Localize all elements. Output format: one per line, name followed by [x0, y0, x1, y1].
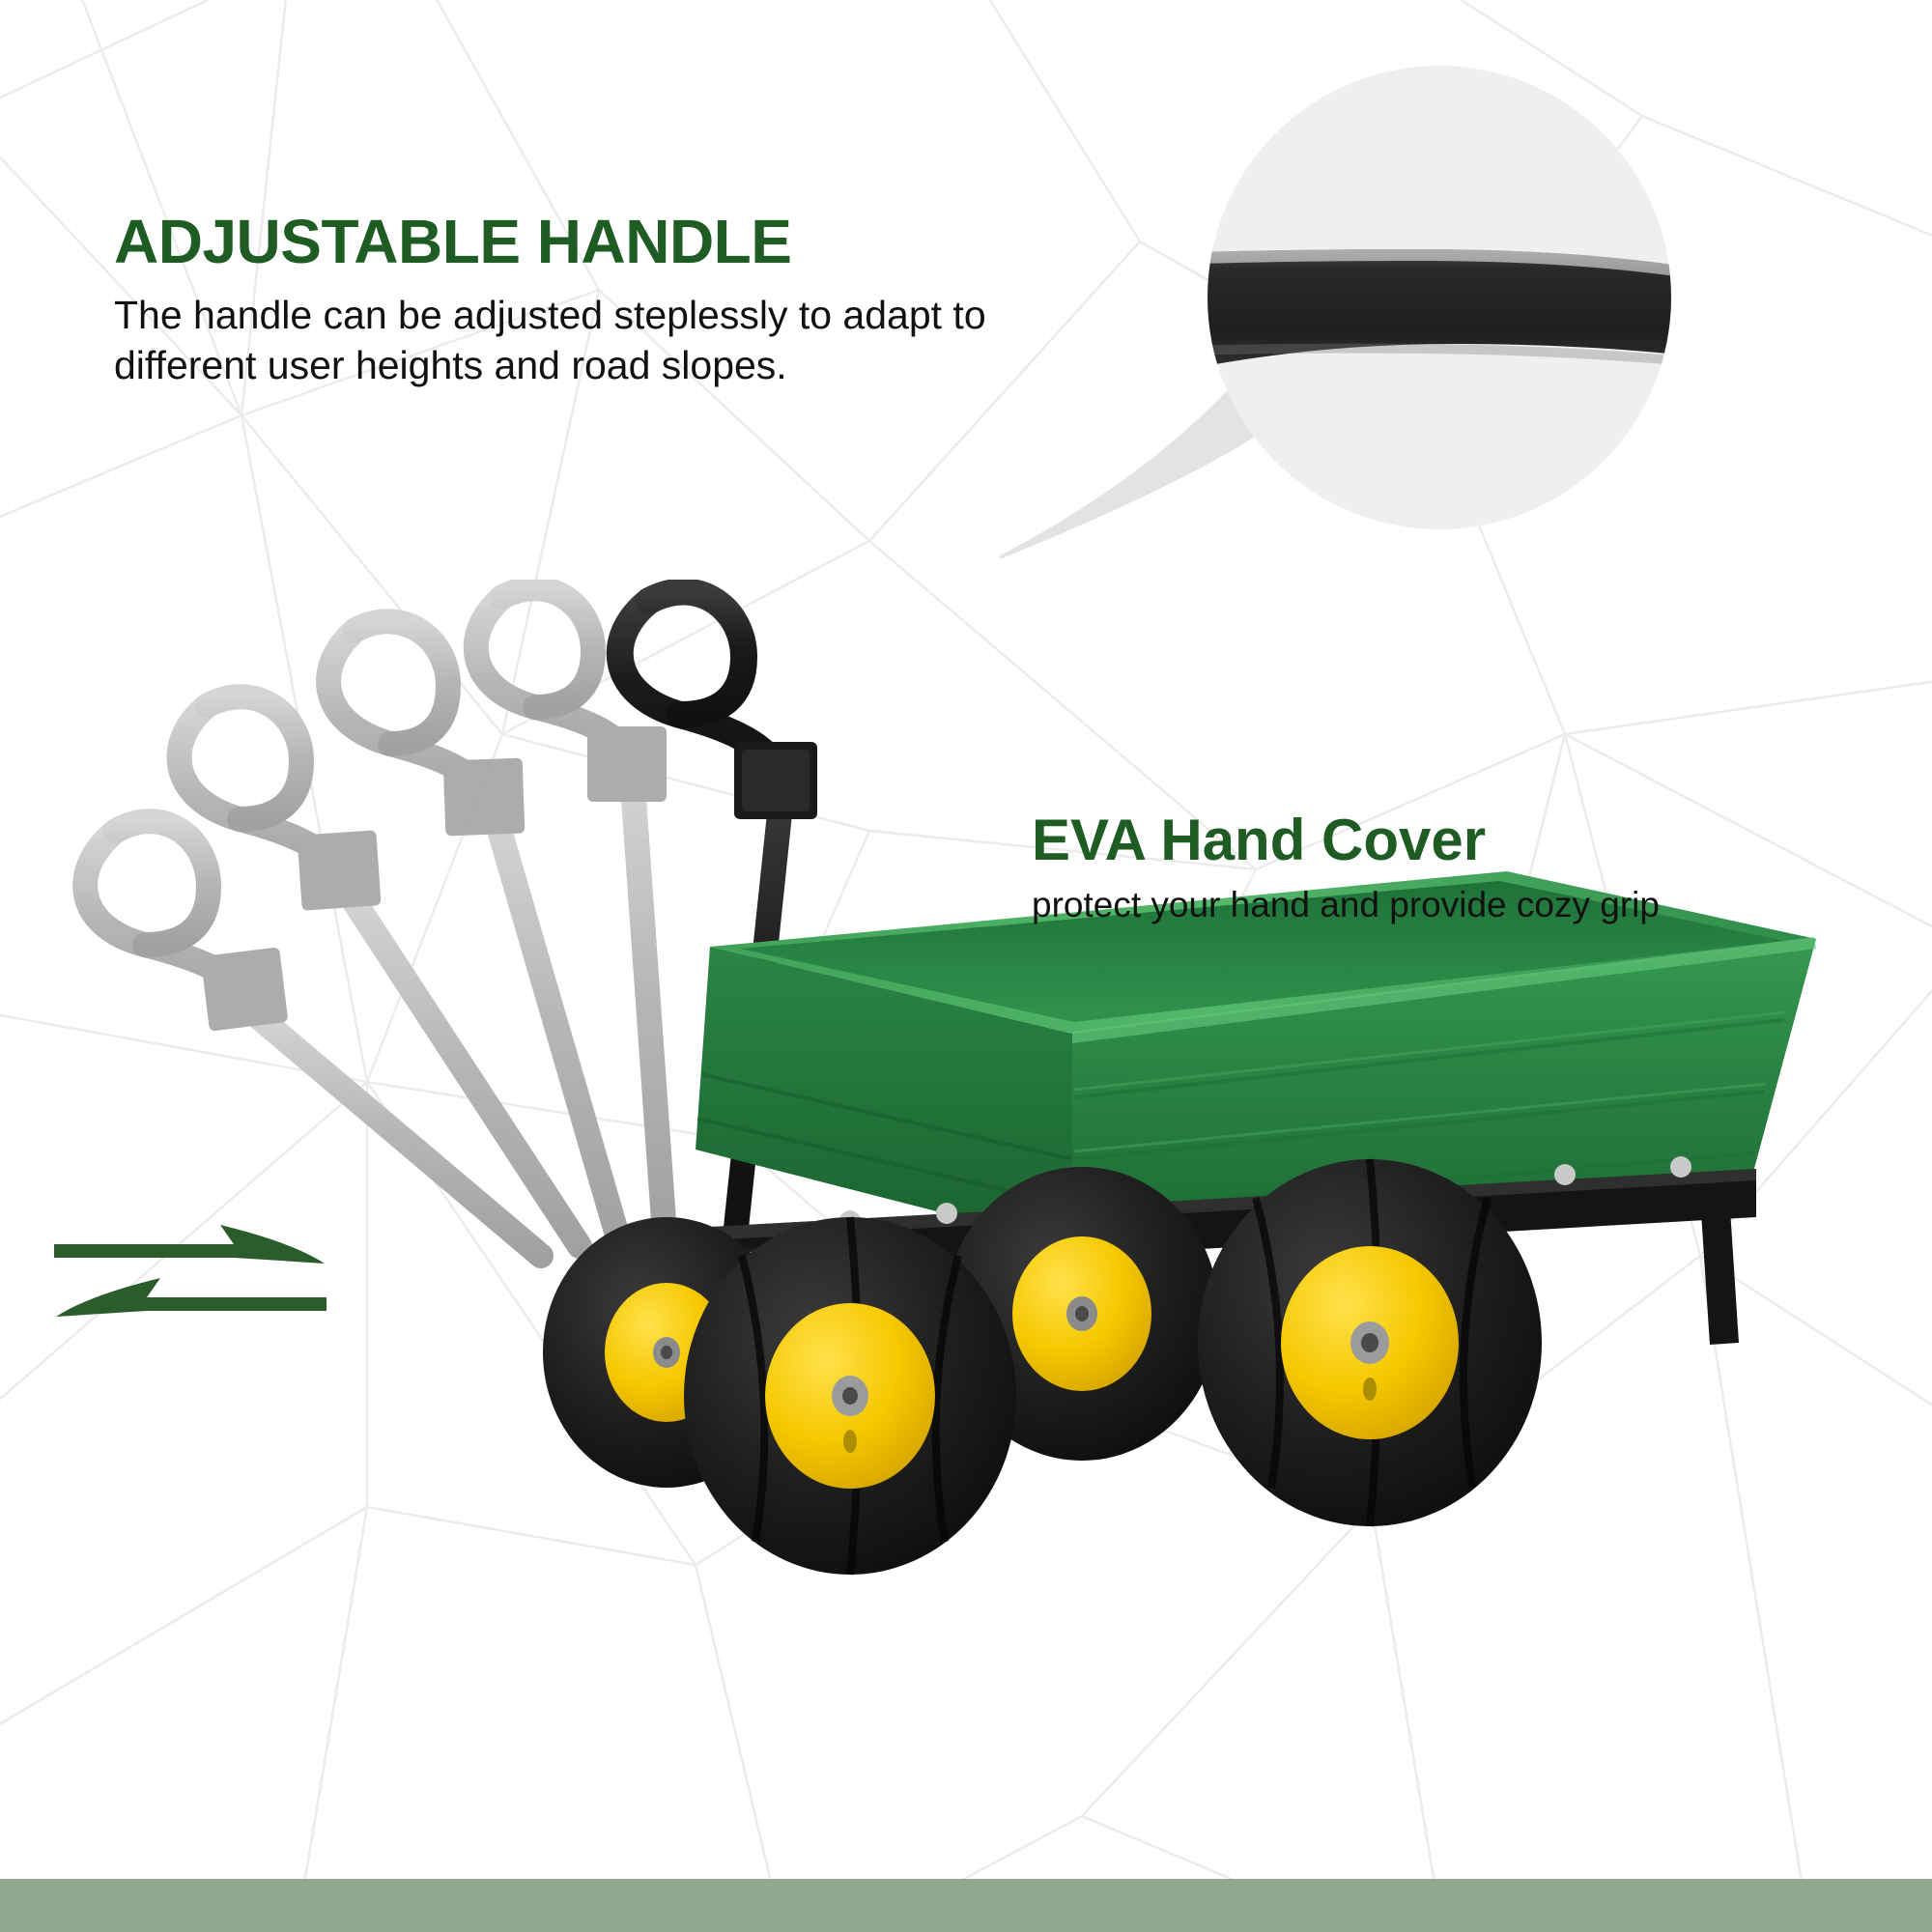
- adjustable-handle-description: The handle can be adjusted steplessly to…: [114, 290, 988, 391]
- wheel-front-right: [684, 1217, 1016, 1575]
- eva-hand-cover-description: protect your hand and provide cozy grip: [1032, 883, 1901, 927]
- ghost-bracket-2: [297, 830, 381, 911]
- feature-block-eva-hand-cover: EVA Hand Cover protect your hand and pro…: [1032, 811, 1901, 927]
- wheel-rear-right: [1198, 1159, 1542, 1526]
- eva-hand-cover-title: EVA Hand Cover: [1032, 811, 1901, 869]
- ghost-bracket-4: [587, 726, 667, 802]
- handle-bracket-face: [742, 750, 810, 811]
- infographic-canvas: ADJUSTABLE HANDLE The handle can be adju…: [0, 0, 1932, 1932]
- ghost-bracket-3: [443, 758, 526, 837]
- bottom-color-band: [0, 1879, 1932, 1932]
- adjustable-handle-title: ADJUSTABLE HANDLE: [114, 211, 1012, 272]
- ghost-handle-positions: [85, 588, 667, 1256]
- feature-block-adjustable-handle: ADJUSTABLE HANDLE The handle can be adju…: [114, 211, 1012, 391]
- ghost-bracket-1: [201, 947, 289, 1031]
- double-arrow-range-icon: [44, 1225, 334, 1355]
